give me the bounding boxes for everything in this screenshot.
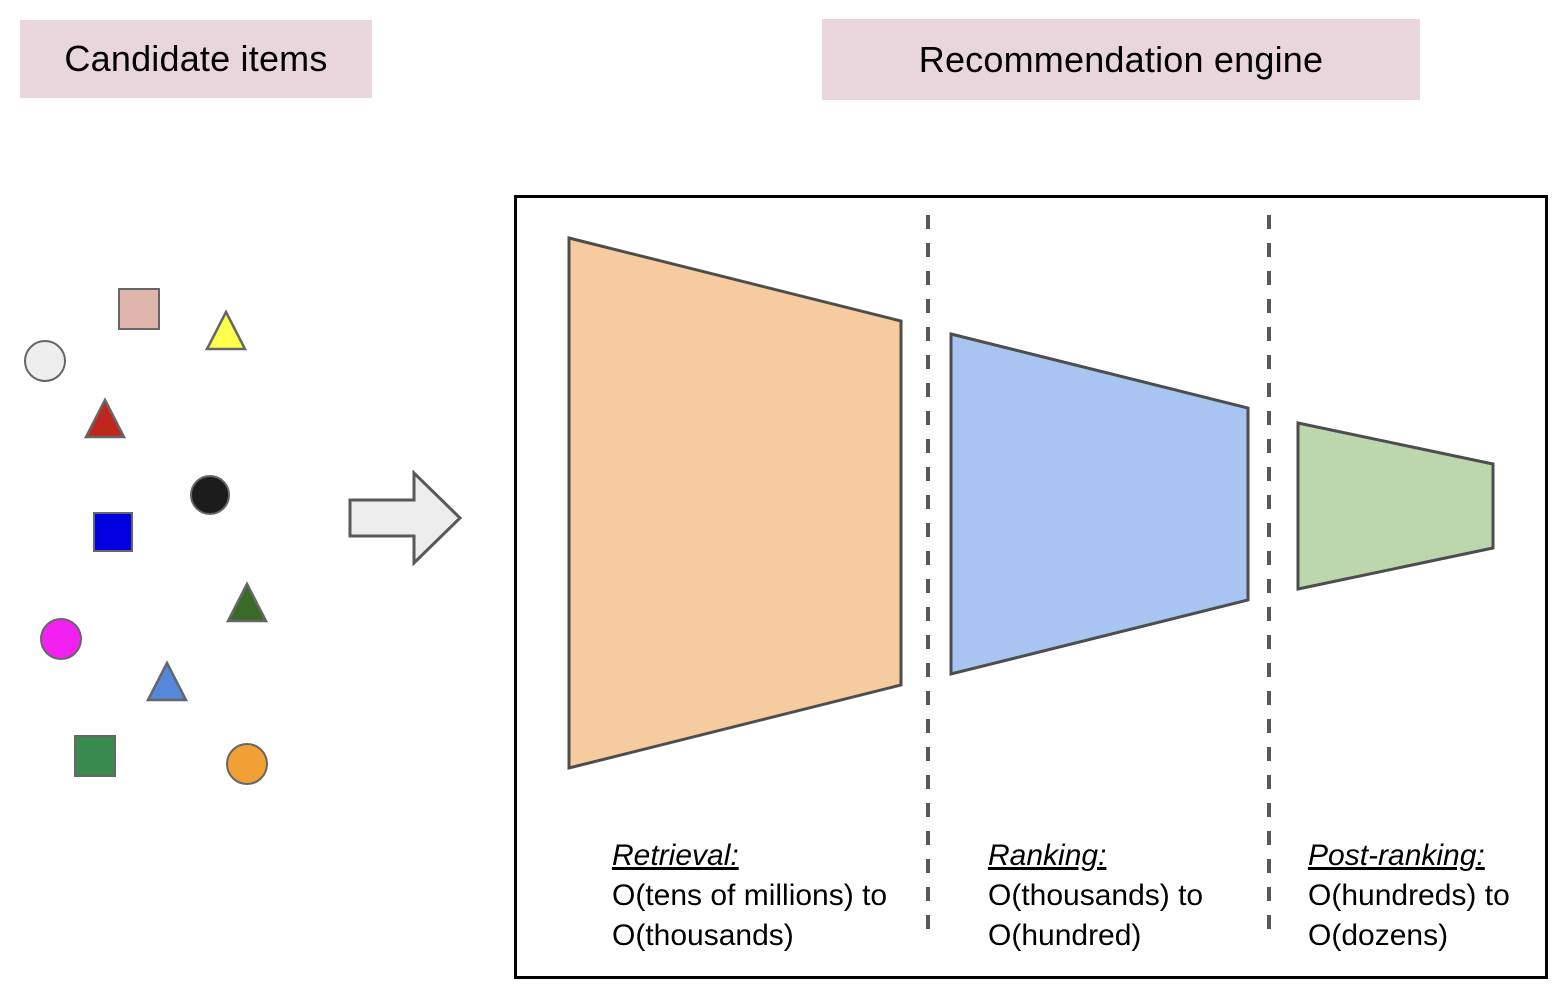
candidate-item-yellow-triangle	[205, 310, 247, 352]
caption-ranking-detail: O(thousands) to O(hundred)	[988, 876, 1250, 956]
caption-retrieval-detail: O(tens of millions) to O(thousands)	[612, 876, 912, 956]
funnel-postranking	[1298, 423, 1493, 589]
caption-post-ranking: Post-ranking: O(hundreds) to O(dozens)	[1308, 836, 1558, 956]
caption-post-ranking-title: Post-ranking:	[1308, 836, 1558, 876]
funnel-ranking	[951, 334, 1248, 674]
candidate-item-darkgreen-triangle	[226, 582, 268, 624]
caption-post-ranking-detail: O(hundreds) to O(dozens)	[1308, 876, 1558, 956]
flow-arrow-right-icon	[348, 470, 462, 566]
caption-ranking-title: Ranking:	[988, 836, 1250, 876]
candidate-item-white-circle	[24, 340, 66, 382]
candidate-item-green-square	[74, 735, 116, 777]
candidate-item-magenta-circle	[40, 618, 82, 660]
diagram-canvas: Candidate items Recommendation engine Re…	[0, 0, 1568, 1000]
header-recommendation-engine-label: Recommendation engine	[919, 42, 1323, 78]
caption-retrieval-title: Retrieval:	[612, 836, 912, 876]
candidate-item-orange-circle	[226, 743, 268, 785]
candidate-items-cloud	[0, 0, 340, 1000]
caption-retrieval: Retrieval: O(tens of millions) to O(thou…	[612, 836, 912, 956]
funnel-retrieval	[569, 238, 901, 768]
candidate-item-black-circle	[190, 475, 230, 515]
caption-ranking: Ranking: O(thousands) to O(hundred)	[988, 836, 1250, 956]
header-recommendation-engine: Recommendation engine	[822, 19, 1420, 100]
candidate-item-blue-triangle	[146, 661, 188, 703]
candidate-item-red-triangle	[84, 398, 126, 440]
candidate-item-blue-square	[93, 512, 133, 552]
candidate-item-pink-square	[118, 288, 160, 330]
